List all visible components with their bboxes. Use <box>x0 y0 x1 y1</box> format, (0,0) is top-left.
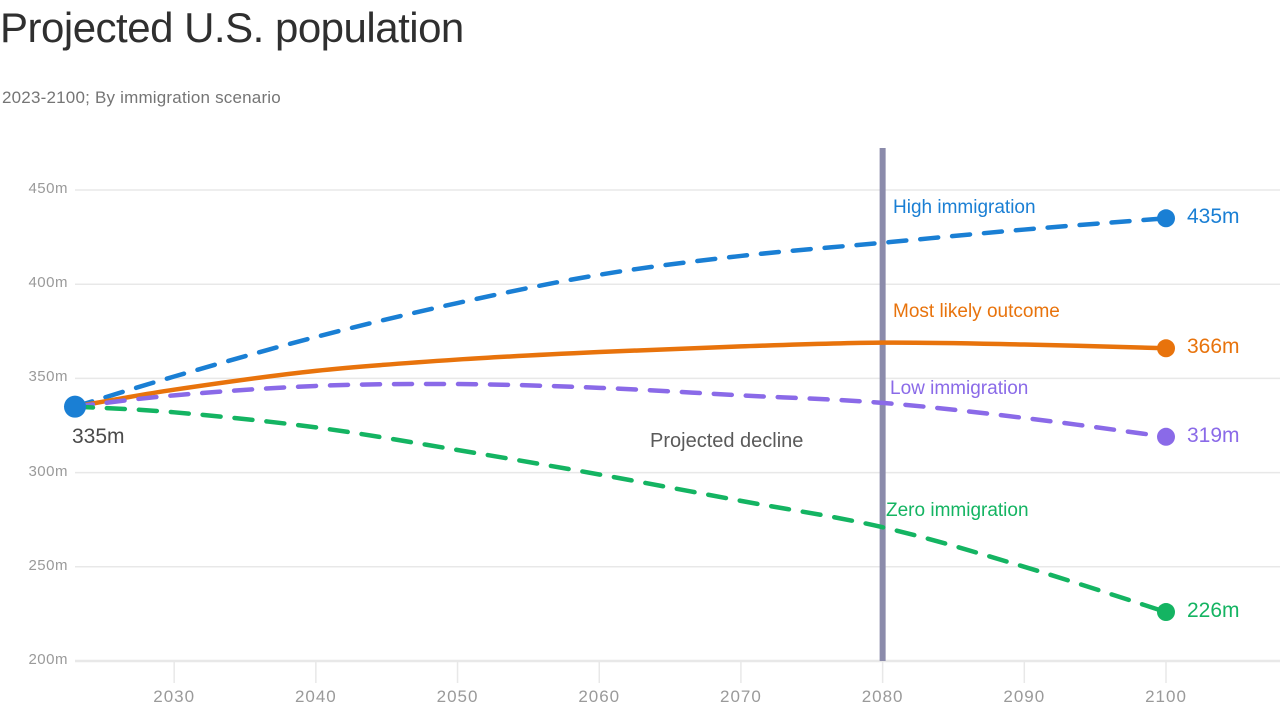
y-tick-label: 200m <box>28 651 68 668</box>
x-tick-label: 2100 <box>1145 687 1187 707</box>
end-value-most-likely-outcome: 366m <box>1187 335 1240 359</box>
series-label-low-immigration: Low immigration <box>890 378 1028 400</box>
series-lines <box>75 218 1166 612</box>
x-tick-label: 2080 <box>862 687 904 707</box>
endpoint-dot-most-likely-outcome <box>1157 339 1175 357</box>
y-tick-label: 400m <box>28 274 68 291</box>
endpoint-dot-high-immigration <box>1157 209 1175 227</box>
series-label-most-likely-outcome: Most likely outcome <box>893 301 1060 323</box>
x-tick-label: 2050 <box>437 687 479 707</box>
end-value-low-immigration: 319m <box>1187 424 1240 448</box>
series-label-high-immigration: High immigration <box>893 197 1036 219</box>
end-value-high-immigration: 435m <box>1187 205 1240 229</box>
x-tick-lines <box>174 661 1166 683</box>
line-chart <box>0 0 1280 719</box>
x-tick-label: 2060 <box>578 687 620 707</box>
start-point-dot <box>64 396 86 418</box>
x-tick-label: 2070 <box>720 687 762 707</box>
endpoint-dot-low-immigration <box>1157 428 1175 446</box>
endpoint-dot-zero-immigration <box>1157 603 1175 621</box>
series-label-zero-immigration: Zero immigration <box>886 500 1029 522</box>
y-tick-label: 450m <box>28 180 68 197</box>
y-tick-label: 300m <box>28 463 68 480</box>
chart-page: Projected U.S. population 2023-2100; By … <box>0 0 1280 719</box>
x-tick-label: 2090 <box>1003 687 1045 707</box>
y-tick-label: 350m <box>28 368 68 385</box>
x-tick-label: 2040 <box>295 687 337 707</box>
projected-decline-annotation: Projected decline <box>650 430 803 453</box>
end-value-zero-immigration: 226m <box>1187 599 1240 623</box>
x-tick-label: 2030 <box>153 687 195 707</box>
y-tick-label: 250m <box>28 557 68 574</box>
start-value-label: 335m <box>72 425 125 449</box>
